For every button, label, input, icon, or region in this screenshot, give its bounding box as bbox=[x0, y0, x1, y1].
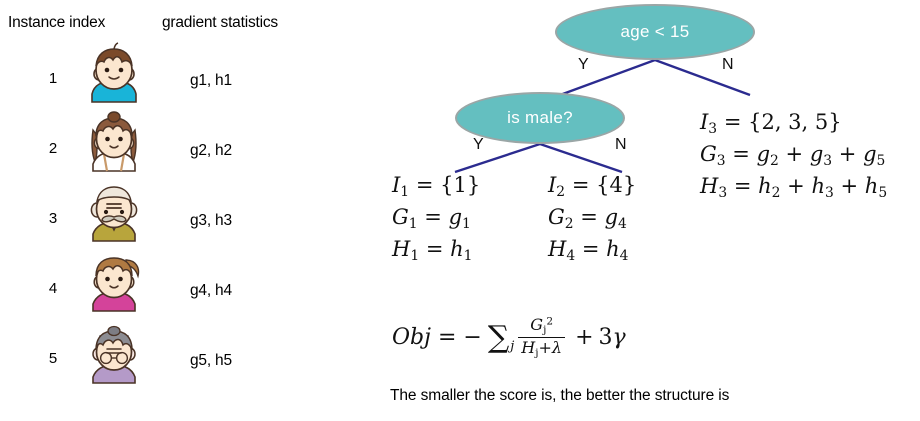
leaf-1-set-sub: 1 bbox=[400, 184, 409, 200]
leaf-3-h-term-1: h2 bbox=[758, 174, 780, 198]
objective-lhs: Obj bbox=[392, 325, 431, 350]
leaf-1-stats: I1 = {1} G1 = g1 H1 = h1 bbox=[392, 170, 480, 266]
tree-node-age[interactable]: age < 15 bbox=[555, 4, 755, 60]
leaf-2-h-value-sub: 4 bbox=[620, 248, 629, 264]
leaf-2-g-value: g bbox=[605, 205, 618, 229]
leaf-3-g-term-2: g3 bbox=[810, 142, 832, 166]
leaf-2-set-value: {4} bbox=[596, 173, 636, 197]
objective-num-sup: 2 bbox=[546, 316, 553, 328]
leaf-1-h-name: H bbox=[392, 237, 410, 261]
edge-label-male-yes: Y bbox=[473, 136, 484, 154]
leaf-1-set-line: I1 = {1} bbox=[392, 170, 480, 202]
tree-node-is-male-label: is male? bbox=[507, 108, 573, 128]
leaf-3-h-term-3-sub: 5 bbox=[878, 185, 887, 201]
row-index-2: 2 bbox=[38, 140, 68, 157]
leaf-1-g-line: G1 = g1 bbox=[392, 202, 480, 234]
objective-equals: = bbox=[438, 325, 456, 350]
leaf-2-g-sub: 2 bbox=[565, 216, 574, 232]
row-stats-2: g2, h2 bbox=[190, 142, 232, 160]
leaf-3-set-line: I3 = {2, 3, 5} bbox=[700, 107, 887, 139]
leaf-3-h-sub: 3 bbox=[718, 185, 727, 201]
row-index-1: 1 bbox=[38, 70, 68, 87]
leaf-3-h-term-1-sub: 2 bbox=[772, 185, 781, 201]
row-stats-4: g4, h4 bbox=[190, 282, 232, 300]
leaf-3-g-term-1: g2 bbox=[757, 142, 779, 166]
row-index-4: 4 bbox=[38, 280, 68, 297]
leaf-3-g-term-1-sub: 2 bbox=[770, 153, 779, 169]
old-woman-glasses-avatar bbox=[86, 322, 142, 384]
leaf-3-h-term-3: h5 bbox=[865, 174, 887, 198]
leaf-1-h-sub: 1 bbox=[410, 248, 419, 264]
leaf-3-g-term-3-sub: 5 bbox=[877, 153, 886, 169]
leaf-3-h-name: H bbox=[700, 174, 718, 198]
tree-node-age-label: age < 15 bbox=[620, 22, 689, 42]
leaf-3-h-term-2: h3 bbox=[811, 174, 833, 198]
objective-denominator: Hj+λ bbox=[518, 337, 565, 359]
column-header-instance-index: Instance index bbox=[8, 14, 105, 32]
caption-text: The smaller the score is, the better the… bbox=[390, 387, 729, 405]
objective-den-base: H bbox=[521, 338, 535, 357]
leaf-1-h-line: H1 = h1 bbox=[392, 234, 480, 266]
leaf-3-h-term-2-sub: 3 bbox=[825, 185, 834, 201]
leaf-2-g-line: G2 = g4 bbox=[548, 202, 636, 234]
objective-formula: Obj = − ∑j Gj2 Hj+λ + 3γ bbox=[392, 316, 626, 360]
row-stats-5: g5, h5 bbox=[190, 352, 232, 370]
objective-numerator: Gj2 bbox=[527, 316, 556, 337]
leaf-3-set-value: {2, 3, 5} bbox=[748, 110, 842, 134]
objective-sum-sub: j bbox=[510, 339, 514, 354]
girl-white-dress-avatar bbox=[86, 110, 142, 172]
edge-label-root-yes: Y bbox=[578, 56, 589, 74]
objective-gamma-coef: 3 bbox=[599, 325, 613, 350]
objective-den-plus: + bbox=[539, 338, 552, 357]
leaf-2-g-value-sub: 4 bbox=[618, 216, 627, 232]
row-index-3: 3 bbox=[38, 210, 68, 227]
leaf-3-g-term-2-sub: 3 bbox=[823, 153, 832, 169]
objective-minus: − bbox=[463, 325, 481, 350]
leaf-2-g-name: G bbox=[548, 205, 565, 229]
leaf-1-set-value: {1} bbox=[440, 173, 480, 197]
leaf-1-h-value-sub: 1 bbox=[464, 248, 473, 264]
leaf-3-g-sub: 3 bbox=[717, 153, 726, 169]
leaf-3-h-line: H3 = h2 + h3 + h5 bbox=[700, 171, 887, 203]
row-index-5: 5 bbox=[38, 350, 68, 367]
leaf-1-g-value: g bbox=[449, 205, 462, 229]
column-header-gradient-statistics: gradient statistics bbox=[162, 14, 278, 32]
boy-teal-shirt-avatar bbox=[86, 42, 142, 104]
leaf-2-h-name: H bbox=[548, 237, 566, 261]
objective-plus: + bbox=[575, 325, 593, 350]
objective-gamma: γ bbox=[613, 325, 626, 350]
leaf-1-g-value-sub: 1 bbox=[462, 216, 471, 232]
leaf-2-set-sub: 2 bbox=[556, 184, 565, 200]
row-stats-1: g1, h1 bbox=[190, 72, 232, 90]
leaf-3-g-line: G3 = g2 + g3 + g5 bbox=[700, 139, 887, 171]
leaf-1-g-sub: 1 bbox=[409, 216, 418, 232]
row-stats-3: g3, h3 bbox=[190, 212, 232, 230]
old-man-mustache-avatar bbox=[86, 180, 142, 242]
edge-label-root-no: N bbox=[722, 56, 734, 74]
objective-num-base: G bbox=[530, 315, 543, 334]
leaf-3-set-sub: 3 bbox=[708, 121, 717, 137]
leaf-2-h-value: h bbox=[606, 237, 620, 261]
leaf-3-stats: I3 = {2, 3, 5} G3 = g2 + g3 + g5 H3 = h2… bbox=[700, 107, 887, 203]
leaf-3-g-name: G bbox=[700, 142, 717, 166]
objective-den-lambda: λ bbox=[552, 338, 562, 357]
leaf-2-h-sub: 4 bbox=[566, 248, 575, 264]
slide-canvas: Instance index gradient statistics 1 g1,… bbox=[0, 0, 920, 421]
objective-fraction: Gj2 Hj+λ bbox=[518, 316, 565, 360]
girl-pink-shirt-avatar bbox=[86, 250, 142, 312]
leaf-3-g-term-3: g5 bbox=[863, 142, 885, 166]
leaf-1-g-name: G bbox=[392, 205, 409, 229]
leaf-1-h-value: h bbox=[450, 237, 464, 261]
leaf-2-h-line: H4 = h4 bbox=[548, 234, 636, 266]
edge-label-male-no: N bbox=[615, 136, 627, 154]
summation-icon: ∑ bbox=[488, 323, 509, 353]
leaf-2-set-line: I2 = {4} bbox=[548, 170, 636, 202]
leaf-2-stats: I2 = {4} G2 = g4 H4 = h4 bbox=[548, 170, 636, 266]
